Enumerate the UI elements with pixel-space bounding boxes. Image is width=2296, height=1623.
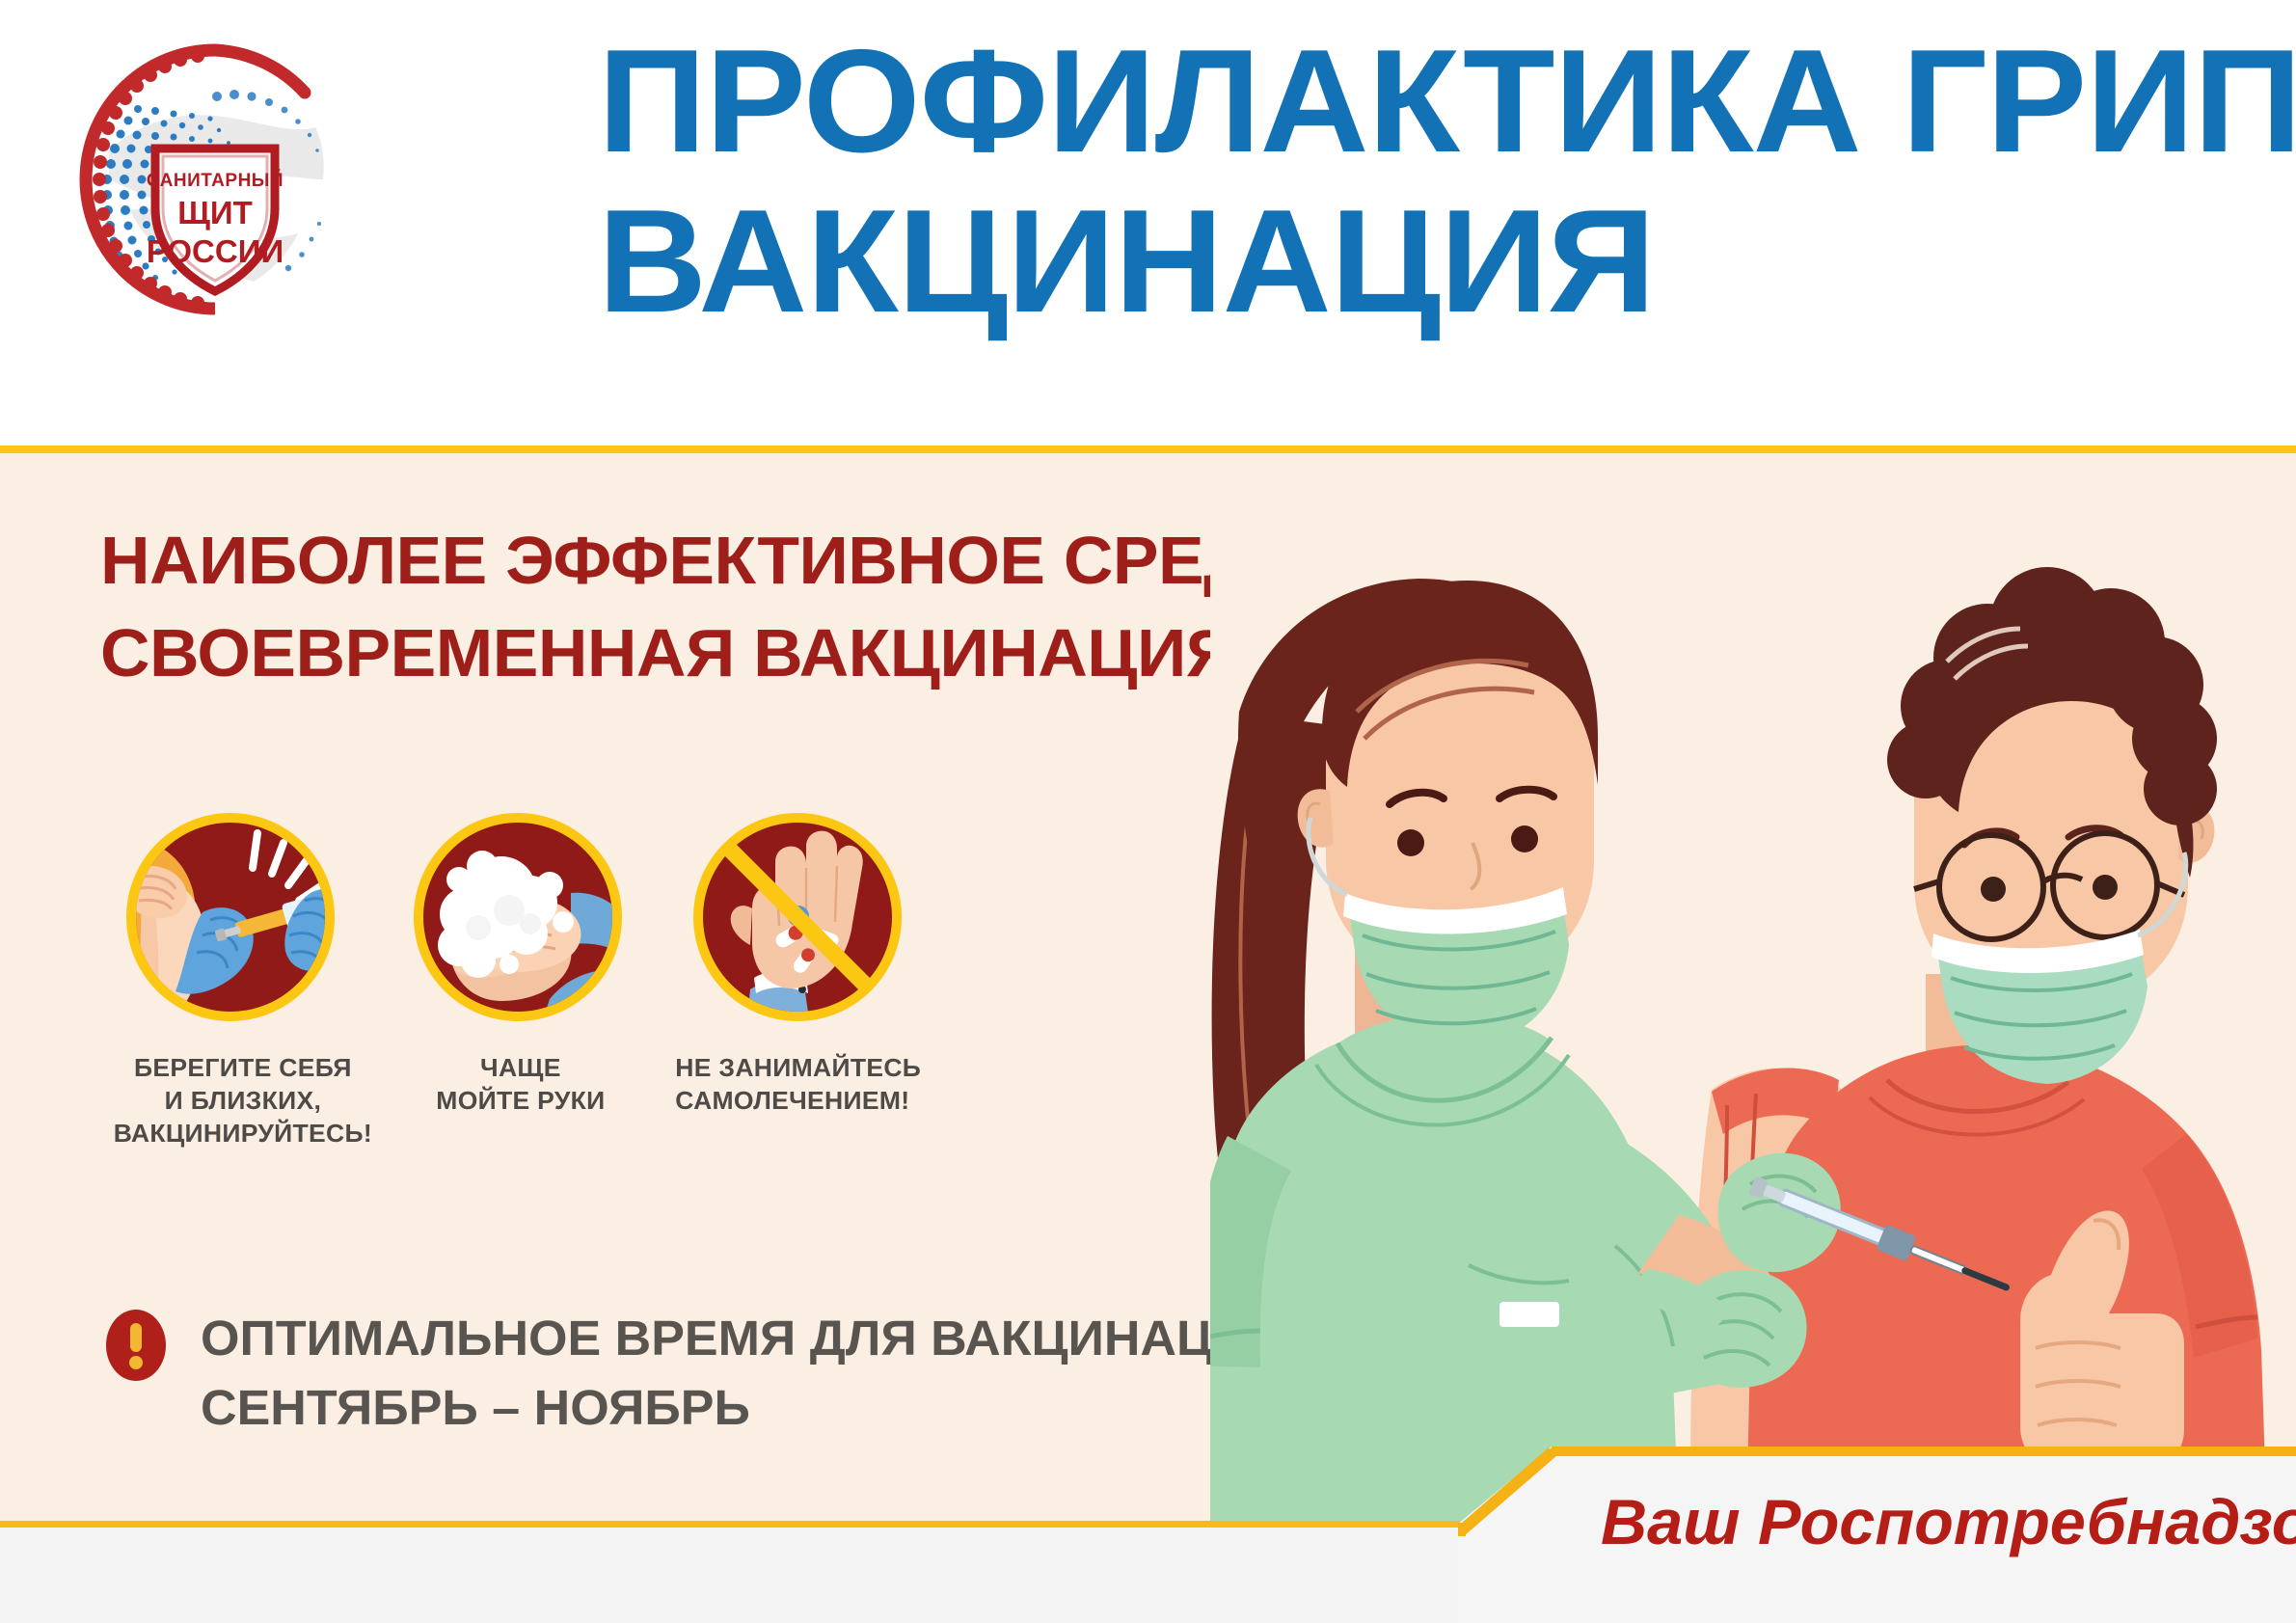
advice-icon-row: БЕРЕГИТЕ СЕБЯ И БЛИЗКИХ, ВАКЦИНИРУЙТЕСЬ! xyxy=(100,808,1238,1223)
notice-line-1: ОПТИМАЛЬНОЕ ВРЕМЯ ДЛЯ ВАКЦИНАЦИИ – xyxy=(201,1304,1327,1373)
logo-line-1: САНИТАРНЫЙ xyxy=(147,170,284,191)
notice-line-2: СЕНТЯБРЬ – НОЯБРЬ xyxy=(201,1373,1327,1443)
caption-line-1: БЕРЕГИТЕ СЕБЯ xyxy=(100,1051,386,1084)
handwashing-icon xyxy=(409,808,627,1026)
caption-line-2: САМОЛЕЧЕНИЕМ! xyxy=(675,1084,966,1117)
influenza-prevention-poster: САНИТАРНЫЙ ЩИТ РОССИИ ПРОФИЛАКТИКА ГРИПП… xyxy=(0,0,2296,1623)
caption-line-2: МОЙТЕ РУКИ xyxy=(378,1084,663,1117)
badge-label: Ваш Роспотребнадзор xyxy=(1601,1487,2296,1556)
rospotrebnadzor-badge: Ваш Роспотребнадзор xyxy=(1458,1447,2296,1623)
page-title-line-2: ВАКЦИНАЦИЯ xyxy=(598,187,2296,336)
poster-header: САНИТАРНЫЙ ЩИТ РОССИИ ПРОФИЛАКТИКА ГРИПП… xyxy=(0,0,2296,449)
caption-line-1: ЧАЩЕ xyxy=(378,1051,663,1084)
page-title-line-1: ПРОФИЛАКТИКА ГРИППА – xyxy=(598,27,2296,176)
logo-line-2: ЩИТ xyxy=(177,195,253,230)
optimal-time-notice: ОПТИМАЛЬНОЕ ВРЕМЯ ДЛЯ ВАКЦИНАЦИИ – СЕНТЯ… xyxy=(106,1304,1311,1443)
page-title: ПРОФИЛАКТИКА ГРИППА – ВАКЦИНАЦИЯ xyxy=(598,10,2295,434)
sanitary-shield-of-russia-logo: САНИТАРНЫЙ ЩИТ РОССИИ xyxy=(70,35,360,324)
caption-line-1: НЕ ЗАНИМАЙТЕСЬ xyxy=(675,1051,966,1084)
vaccination-icon xyxy=(122,808,339,1026)
caption-line-3: ВАКЦИНИРУЙТЕСЬ! xyxy=(100,1117,386,1150)
advice-item-handwashing: ЧАЩЕ МОЙТЕ РУКИ xyxy=(378,808,658,1117)
nurse-vaccinating-patient-illustration xyxy=(1210,453,2296,1527)
caption-line-2: И БЛИЗКИХ, xyxy=(100,1084,386,1117)
logo-line-3: РОССИИ xyxy=(147,233,284,269)
advice-item-vaccination: БЕРЕГИТЕ СЕБЯ И БЛИЗКИХ, ВАКЦИНИРУЙТЕСЬ! xyxy=(100,808,380,1150)
gold-divider-top xyxy=(0,446,2296,453)
advice-item-no-selfmedication: НЕ ЗАНИМАЙТЕСЬ САМОЛЕЧЕНИЕМ! xyxy=(662,808,960,1117)
no-selfmedication-icon xyxy=(689,808,906,1026)
advice-caption-no-selfmedication: НЕ ЗАНИМАЙТЕСЬ САМОЛЕЧЕНИЕМ! xyxy=(662,1051,966,1117)
exclamation-circle-icon xyxy=(106,1310,166,1381)
optimal-time-notice-text: ОПТИМАЛЬНОЕ ВРЕМЯ ДЛЯ ВАКЦИНАЦИИ – СЕНТЯ… xyxy=(201,1304,1327,1443)
advice-caption-vaccination: БЕРЕГИТЕ СЕБЯ И БЛИЗКИХ, ВАКЦИНИРУЙТЕСЬ! xyxy=(100,1051,386,1150)
advice-caption-handwashing: ЧАЩЕ МОЙТЕ РУКИ xyxy=(378,1051,663,1117)
